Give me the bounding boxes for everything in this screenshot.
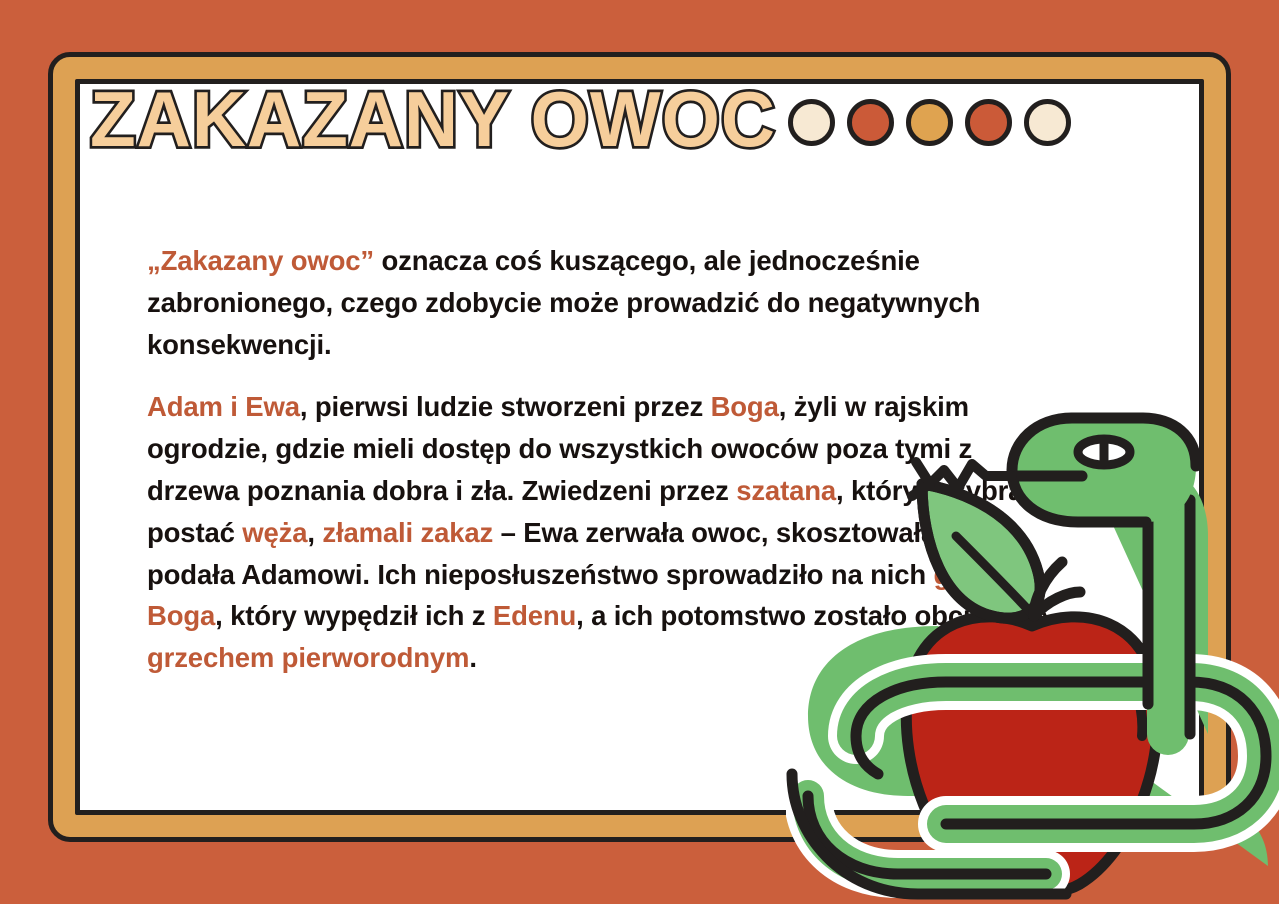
accent-phrase: Adam i Ewa bbox=[147, 391, 300, 422]
body-text-run: . bbox=[469, 642, 477, 673]
decorative-dot-row bbox=[788, 99, 1071, 146]
body-text-run: , pierwsi ludzie stworzeni przez bbox=[300, 391, 711, 422]
dot-amber bbox=[906, 99, 953, 146]
dot-terracotta-2 bbox=[965, 99, 1012, 146]
accent-phrase: grzechem pierworodnym bbox=[147, 642, 469, 673]
poster: ZAKAZANY OWOC „Zakazany owoc” oznacza co… bbox=[0, 0, 1279, 904]
body-text-run: , bbox=[307, 517, 322, 548]
accent-phrase: węża bbox=[242, 517, 307, 548]
page-title: ZAKAZANY OWOC bbox=[90, 81, 776, 159]
dot-terracotta-1 bbox=[847, 99, 894, 146]
paragraph-story: Adam i Ewa, pierwsi ludzie stworzeni prz… bbox=[147, 386, 1067, 679]
header: ZAKAZANY OWOC bbox=[90, 84, 1071, 156]
accent-phrase: Boga bbox=[711, 391, 779, 422]
body-text-run: , a ich potomstwo zostało obciążone bbox=[576, 600, 1047, 631]
dot-cream-1 bbox=[788, 99, 835, 146]
body-copy: „Zakazany owoc” oznacza coś kuszącego, a… bbox=[147, 240, 1087, 679]
paragraph-definition: „Zakazany owoc” oznacza coś kuszącego, a… bbox=[147, 240, 1082, 365]
body-text-run: , który wypędził ich z bbox=[215, 600, 493, 631]
accent-phrase: złamali zakaz bbox=[322, 517, 493, 548]
dot-cream-2 bbox=[1024, 99, 1071, 146]
accent-phrase: szatana bbox=[736, 475, 836, 506]
accent-phrase: „Zakazany owoc” bbox=[147, 245, 374, 276]
accent-phrase: Edenu bbox=[493, 600, 576, 631]
